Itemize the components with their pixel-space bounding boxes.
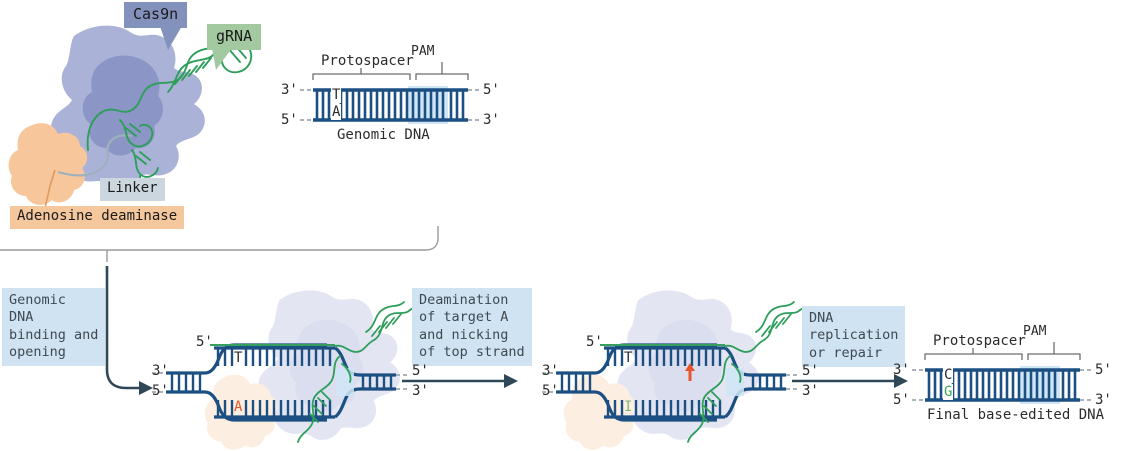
final-left-5prime: 5' [893,392,910,408]
step-1-label: Genomic DNA binding and opening [2,288,105,366]
pam-label: PAM [411,44,434,59]
final-pam-label: PAM [1023,324,1046,339]
panel-bound-right-3prime: 3' [412,383,429,399]
grna-label: gRNA [207,24,261,50]
panel-bound-right-5prime: 5' [412,363,429,379]
dna-top-base-a: A [331,104,341,120]
genomic-dna-caption: Genomic DNA [337,127,430,143]
cas9n-label: Cas9n [124,2,187,28]
dna-top-left-5prime: 5' [281,112,298,128]
dna-top-base-t: T [331,87,341,103]
final-dna-caption: Final base-edited DNA [927,407,1104,423]
step-3-label: DNA replication or repair [802,306,905,367]
final-base-c: C [943,367,953,383]
panel-deaminated-base-i: I [624,399,632,415]
panel-bound-5prime-top: 5' [196,334,213,350]
figure-canvas: Cas9n gRNA Linker Adenosine deaminase Pr… [0,0,1128,451]
arrow-step-1 [107,266,153,395]
final-dna-duplex [912,366,1093,404]
protospacer-label: Protospacer [321,53,414,69]
cas9n-callout-tail [160,26,200,52]
panel-bound-base-a: A [234,399,242,415]
panel-deaminated-left-5prime: 5' [542,383,559,399]
step-2-label: Deamination of target A and nicking of t… [412,288,532,366]
panel-bound-left-3prime: 3' [152,363,169,379]
final-protospacer-bracket [925,348,1022,360]
final-right-3prime: 3' [1095,392,1112,408]
final-base-g: G [943,384,953,400]
linker-label: Linker [100,178,165,201]
final-pam-bracket [1028,342,1080,360]
bracket-connector [0,226,438,262]
panel-deaminated-base-t: T [624,350,632,366]
panel-deaminated-5prime-top: 5' [586,334,603,350]
grna-callout-tail [210,48,244,72]
dna-top-left-3prime: 3' [281,82,298,98]
panel-bound-base-t: T [234,350,242,366]
panel-deaminated-right-3prime: 3' [802,383,819,399]
final-left-3prime: 3' [893,362,910,378]
panel-bound-left-5prime: 5' [152,383,169,399]
pam-bracket [416,62,468,80]
final-protospacer-label: Protospacer [933,333,1026,349]
dna-top-right-5prime: 5' [483,82,500,98]
protospacer-bracket [313,68,410,80]
panel-bound-protein [205,290,400,449]
dna-top-right-3prime: 3' [483,112,500,128]
final-right-5prime: 5' [1095,362,1112,378]
adenosine-deaminase-label: Adenosine deaminase [10,206,184,229]
panel-deaminated-left-3prime: 3' [542,363,559,379]
panel-deaminated-right-5prime: 5' [802,363,819,379]
genomic-dna-duplex [300,86,481,124]
